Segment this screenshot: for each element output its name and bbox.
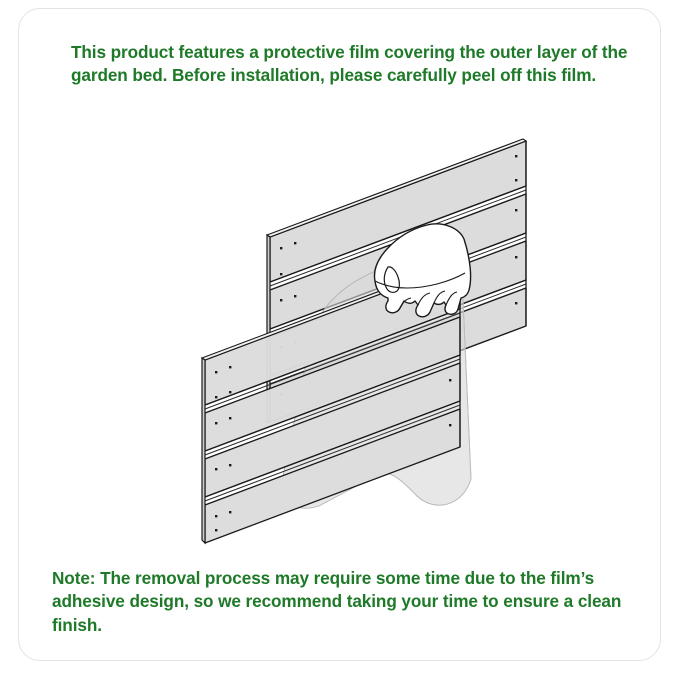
lower-panel-slat-4 xyxy=(205,409,460,543)
slat-face xyxy=(205,409,460,543)
upper-panel-screw-holes xyxy=(280,242,296,395)
slat-face xyxy=(205,264,460,405)
slat-face xyxy=(270,194,526,329)
hand-finger-line-2 xyxy=(418,293,430,305)
slat-face xyxy=(270,288,526,422)
slat-left-edge xyxy=(267,235,270,242)
lower-panel-groove-2 xyxy=(203,355,460,459)
hand-silhouette xyxy=(375,224,471,317)
upper-panel-screw-holes-right xyxy=(515,155,517,304)
film-curl-edge xyxy=(377,473,417,496)
film-fold-edge xyxy=(462,277,471,479)
upper-panel-slat-3 xyxy=(270,241,526,376)
upper-panel-slat-1 xyxy=(267,139,526,282)
upper-panel-groove-2 xyxy=(268,233,526,337)
lower-panel xyxy=(202,262,460,543)
lower-panel-left-return xyxy=(202,358,205,543)
lower-panel-groove-1 xyxy=(203,309,460,413)
lower-panel-screw-holes xyxy=(215,295,451,531)
upper-panel xyxy=(267,139,526,422)
upper-panel-slat-4 xyxy=(270,288,526,422)
lower-panel-slat-2 xyxy=(205,317,460,451)
instruction-card: This product features a protective film … xyxy=(18,8,661,661)
lower-panel-slat-1 xyxy=(202,262,460,405)
footer-note-text: Note: The removal process may require so… xyxy=(52,567,632,637)
slat-face xyxy=(205,317,460,451)
hand-palm-contour xyxy=(375,273,465,288)
upper-panel-slat-2 xyxy=(270,194,526,329)
slat-top-bevel xyxy=(267,139,526,237)
slat-top-bevel xyxy=(202,262,460,360)
hand-thumb xyxy=(384,267,399,293)
upper-panel-left-return xyxy=(267,235,270,422)
lower-panel-slat-3 xyxy=(205,363,460,497)
upper-panel-groove-1 xyxy=(268,186,526,290)
protective-film xyxy=(280,256,471,508)
lower-panel-groove-3 xyxy=(203,401,460,505)
slat-face xyxy=(270,141,526,282)
slat-face xyxy=(205,363,460,497)
slat-face xyxy=(270,241,526,376)
hand-finger-line-1 xyxy=(400,298,411,308)
film-sheet xyxy=(280,256,471,508)
hand-finger-line-3 xyxy=(434,291,445,303)
upper-panel-groove-3 xyxy=(268,280,526,384)
hand-finger-line-4 xyxy=(446,292,457,305)
hand-icon xyxy=(375,224,471,317)
intro-instruction-text: This product features a protective film … xyxy=(71,41,635,88)
